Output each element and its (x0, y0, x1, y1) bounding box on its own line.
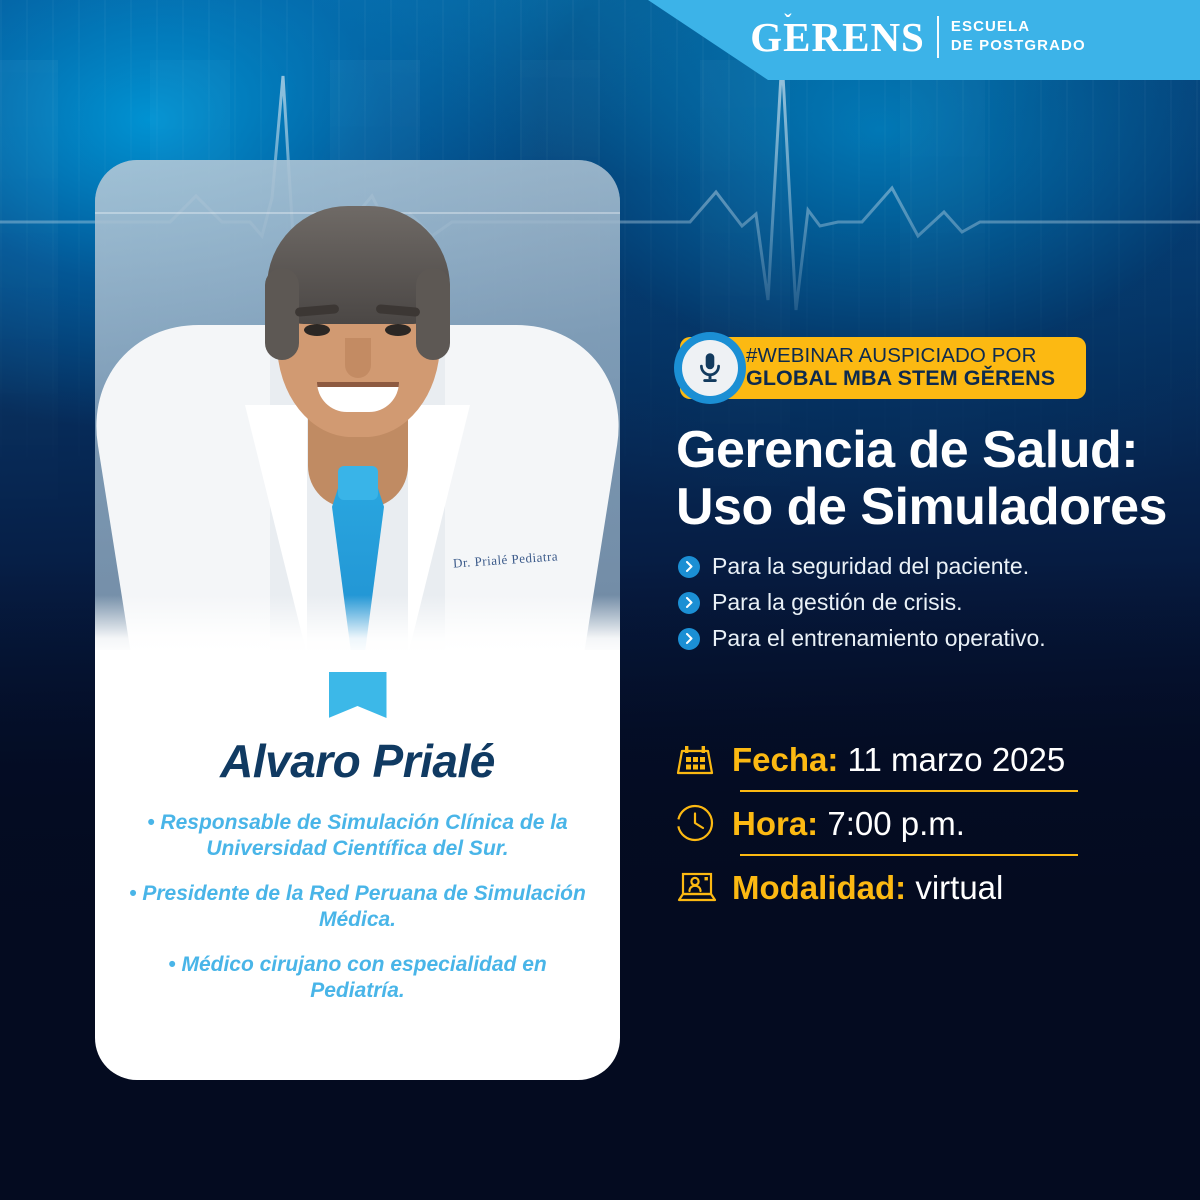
sponsor-line-1: #WEBINAR AUSPICIADO POR (746, 345, 1055, 367)
detail-row-time: Hora: 7:00 p.m. (674, 792, 1094, 854)
detail-value-date: 11 marzo 2025 (848, 741, 1066, 778)
detail-value-time: 7:00 p.m. (827, 805, 965, 842)
laptop-person-icon (674, 867, 732, 907)
benefit-list: Para la seguridad del paciente. Para la … (678, 553, 1158, 661)
credential-item: • Presidente de la Red Peruana de Simula… (129, 881, 586, 934)
speaker-credentials: • Responsable de Simulación Clínica de l… (129, 810, 586, 1005)
speaker-portrait-illustration: Dr. Prialé Pediatra (95, 160, 620, 655)
microphone-icon (674, 332, 746, 404)
detail-row-modality: Modalidad: virtual (674, 856, 1094, 918)
list-item: Para la seguridad del paciente. (678, 553, 1158, 580)
title-line-1: Gerencia de Salud: (676, 422, 1176, 479)
photo-bottom-fade (95, 595, 620, 655)
list-item: Para el entrenamiento operativo. (678, 625, 1158, 652)
sponsor-badge: #WEBINAR AUSPICIADO POR GLOBAL MBA STEM … (680, 337, 1086, 399)
detail-label-modality: Modalidad: (732, 869, 906, 906)
speaker-name: Alvaro Prialé (129, 734, 586, 788)
list-item-label: Para la gestión de crisis. (712, 589, 963, 616)
chevron-right-icon (678, 556, 700, 578)
list-item-label: Para la seguridad del paciente. (712, 553, 1029, 580)
calendar-icon (674, 739, 732, 779)
event-details: Fecha: 11 marzo 2025 Hora: 7:00 p.m. (674, 728, 1094, 918)
speaker-info: Alvaro Prialé • Responsable de Simulació… (95, 650, 620, 1080)
clock-icon (674, 802, 732, 844)
sponsor-line-2: GLOBAL MBA STEM GĚRENS (746, 367, 1055, 390)
speaker-card: Dr. Prialé Pediatra Alvaro Prialé • Resp… (95, 160, 620, 1080)
credential-item: • Médico cirujano con especialidad en Pe… (129, 952, 586, 1005)
list-item: Para la gestión de crisis. (678, 589, 1158, 616)
page-title: Gerencia de Salud: Uso de Simuladores (676, 422, 1176, 536)
content-column: #WEBINAR AUSPICIADO POR GLOBAL MBA STEM … (672, 0, 1172, 1200)
list-item-label: Para el entrenamiento operativo. (712, 625, 1046, 652)
webinar-poster: GERENS ˇ ESCUELA DE POSTGRADO (0, 0, 1200, 1200)
chevron-right-icon (678, 628, 700, 650)
chevron-right-icon (678, 592, 700, 614)
detail-value-modality: virtual (915, 869, 1003, 906)
detail-label-date: Fecha: (732, 741, 838, 778)
credential-item: • Responsable de Simulación Clínica de l… (129, 810, 586, 863)
speaker-photo: Dr. Prialé Pediatra (95, 160, 620, 655)
title-line-2: Uso de Simuladores (676, 479, 1176, 536)
detail-label-time: Hora: (732, 805, 818, 842)
bookmark-icon (329, 672, 387, 718)
detail-row-date: Fecha: 11 marzo 2025 (674, 728, 1094, 790)
